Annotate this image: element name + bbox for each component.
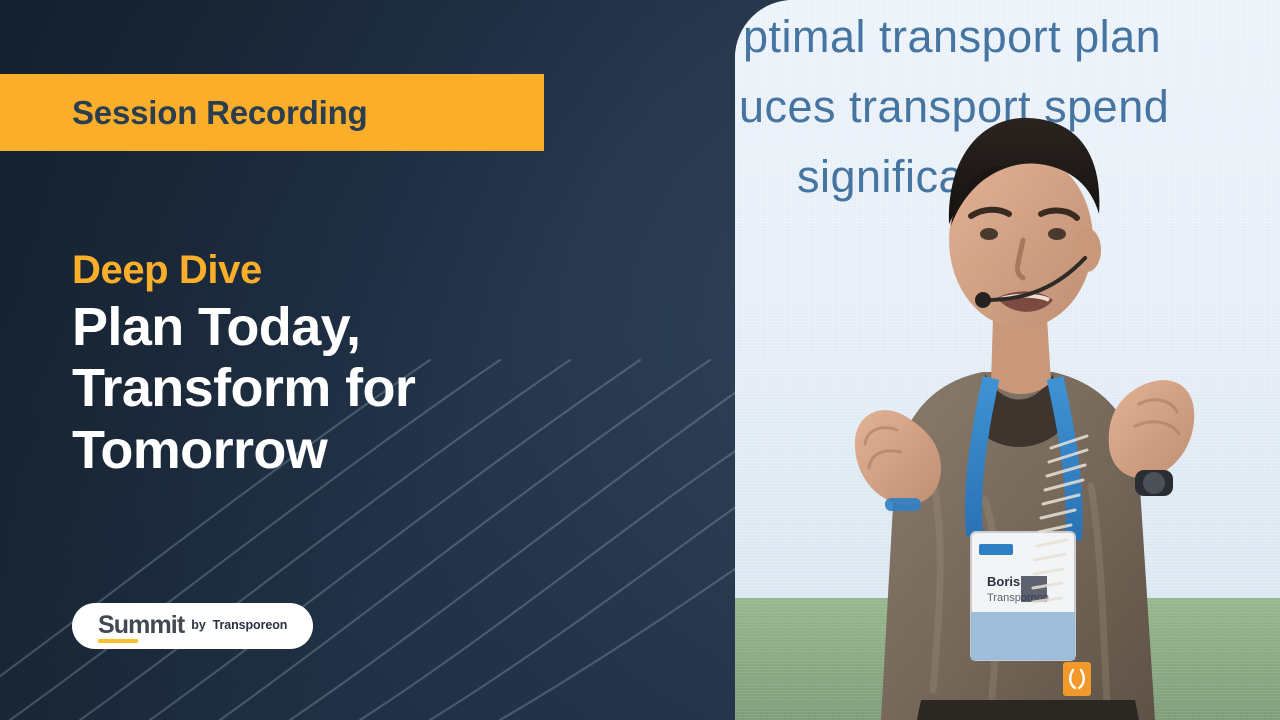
speaker-photo: ptimal transport plan uces transport spe… xyxy=(735,0,1280,720)
svg-text:ptimal transport plan: ptimal transport plan xyxy=(743,11,1161,62)
logo-by-label: by xyxy=(191,619,205,633)
page-title: Plan Today, Transform for Tomorrow xyxy=(72,297,592,482)
session-recording-slide: ptimal transport plan uces transport spe… xyxy=(0,0,1280,720)
summit-logo: Summit by Transporeon xyxy=(72,603,313,649)
logo-summit-word: Summit xyxy=(98,613,184,640)
svg-text:Boris: Boris xyxy=(987,574,1020,589)
svg-text:uces transport spend: uces transport spend xyxy=(739,81,1169,132)
badge-label: Session Recording xyxy=(0,96,368,129)
headline-block: Deep Dive Plan Today, Transform for Tomo… xyxy=(72,248,592,481)
logo-underline-accent xyxy=(98,639,138,643)
eyebrow-deep-dive: Deep Dive xyxy=(72,248,592,293)
session-recording-badge: Session Recording xyxy=(0,74,544,151)
logo-summit-text: Summit xyxy=(98,611,184,639)
logo-brand-name: Transporeon xyxy=(213,619,288,633)
